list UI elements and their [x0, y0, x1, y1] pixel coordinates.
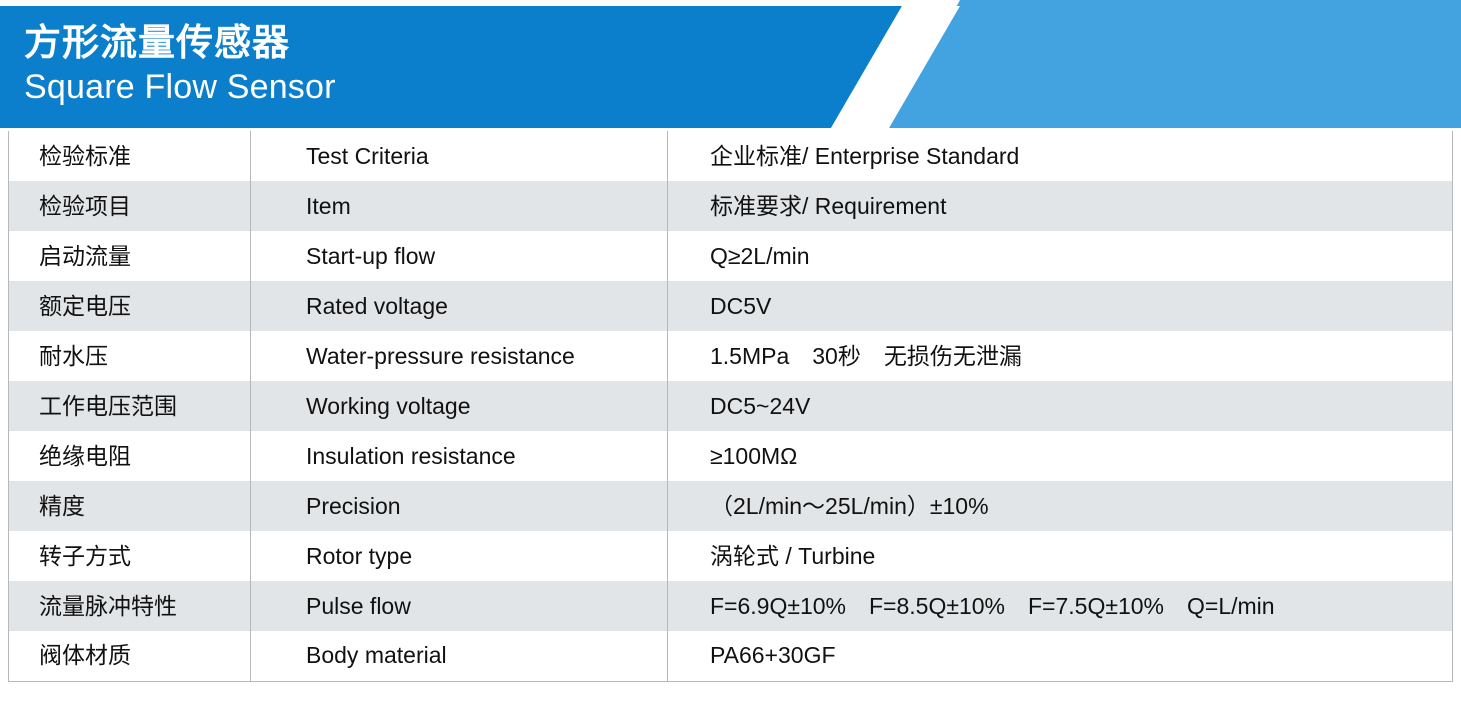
- table-row: 检验标准Test Criteria企业标准/ Enterprise Standa…: [9, 131, 1453, 181]
- spec-value: Q≥2L/min: [668, 231, 1453, 281]
- spec-label-cn: 阀体材质: [9, 631, 251, 681]
- spec-label-en: Test Criteria: [251, 131, 668, 181]
- spec-label-cn: 精度: [9, 481, 251, 531]
- banner-light-field: [889, 0, 1461, 128]
- spec-label-cn: 工作电压范围: [9, 381, 251, 431]
- spec-value: 企业标准/ Enterprise Standard: [668, 131, 1453, 181]
- spec-label-en: Rotor type: [251, 531, 668, 581]
- spec-label-cn: 启动流量: [9, 231, 251, 281]
- table-row: 检验项目Item标准要求/ Requirement: [9, 181, 1453, 231]
- table-row: 阀体材质Body materialPA66+30GF: [9, 631, 1453, 681]
- spec-value: 涡轮式 / Turbine: [668, 531, 1453, 581]
- banner-background-shape: [0, 0, 1461, 128]
- table-row: 绝缘电阻Insulation resistance≥100MΩ: [9, 431, 1453, 481]
- spec-label-en: Rated voltage: [251, 281, 668, 331]
- spec-value: PA66+30GF: [668, 631, 1453, 681]
- spec-value: 标准要求/ Requirement: [668, 181, 1453, 231]
- spec-label-cn: 耐水压: [9, 331, 251, 381]
- spec-label-en: Item: [251, 181, 668, 231]
- spec-label-en: Water-pressure resistance: [251, 331, 668, 381]
- spec-label-en: Pulse flow: [251, 581, 668, 631]
- spec-label-en: Working voltage: [251, 381, 668, 431]
- product-banner: 方形流量传感器 Square Flow Sensor: [0, 0, 1461, 128]
- table-row: 启动流量Start-up flowQ≥2L/min: [9, 231, 1453, 281]
- spec-value: F=6.9Q±10% F=8.5Q±10% F=7.5Q±10% Q=L/min: [668, 581, 1453, 631]
- spec-label-cn: 检验标准: [9, 131, 251, 181]
- spec-label-en: Start-up flow: [251, 231, 668, 281]
- table-row: 额定电压Rated voltageDC5V: [9, 281, 1453, 331]
- spec-label-en: Precision: [251, 481, 668, 531]
- spec-value: DC5~24V: [668, 381, 1453, 431]
- spec-label-cn: 额定电压: [9, 281, 251, 331]
- spec-label-en: Body material: [251, 631, 668, 681]
- spec-label-cn: 检验项目: [9, 181, 251, 231]
- spec-label-cn: 转子方式: [9, 531, 251, 581]
- specification-table: 检验标准Test Criteria企业标准/ Enterprise Standa…: [8, 131, 1453, 682]
- spec-label-en: Insulation resistance: [251, 431, 668, 481]
- table-row: 耐水压Water-pressure resistance1.5MPa 30秒 无…: [9, 331, 1453, 381]
- spec-table-container: 检验标准Test Criteria企业标准/ Enterprise Standa…: [8, 131, 1452, 689]
- spec-value: ≥100MΩ: [668, 431, 1453, 481]
- spec-value: （2L/min〜25L/min）±10%: [668, 481, 1453, 531]
- table-row: 工作电压范围Working voltageDC5~24V: [9, 381, 1453, 431]
- spec-value: DC5V: [668, 281, 1453, 331]
- specification-table-body: 检验标准Test Criteria企业标准/ Enterprise Standa…: [9, 131, 1453, 681]
- spec-sheet-page: 方形流量传感器 Square Flow Sensor 检验标准Test Crit…: [0, 0, 1461, 705]
- spec-label-cn: 流量脉冲特性: [9, 581, 251, 631]
- spec-value: 1.5MPa 30秒 无损伤无泄漏: [668, 331, 1453, 381]
- table-row: 流量脉冲特性Pulse flowF=6.9Q±10% F=8.5Q±10% F=…: [9, 581, 1453, 631]
- spec-label-cn: 绝缘电阻: [9, 431, 251, 481]
- table-row: 精度Precision（2L/min〜25L/min）±10%: [9, 481, 1453, 531]
- table-row: 转子方式Rotor type涡轮式 / Turbine: [9, 531, 1453, 581]
- banner-dark-field: [0, 6, 902, 128]
